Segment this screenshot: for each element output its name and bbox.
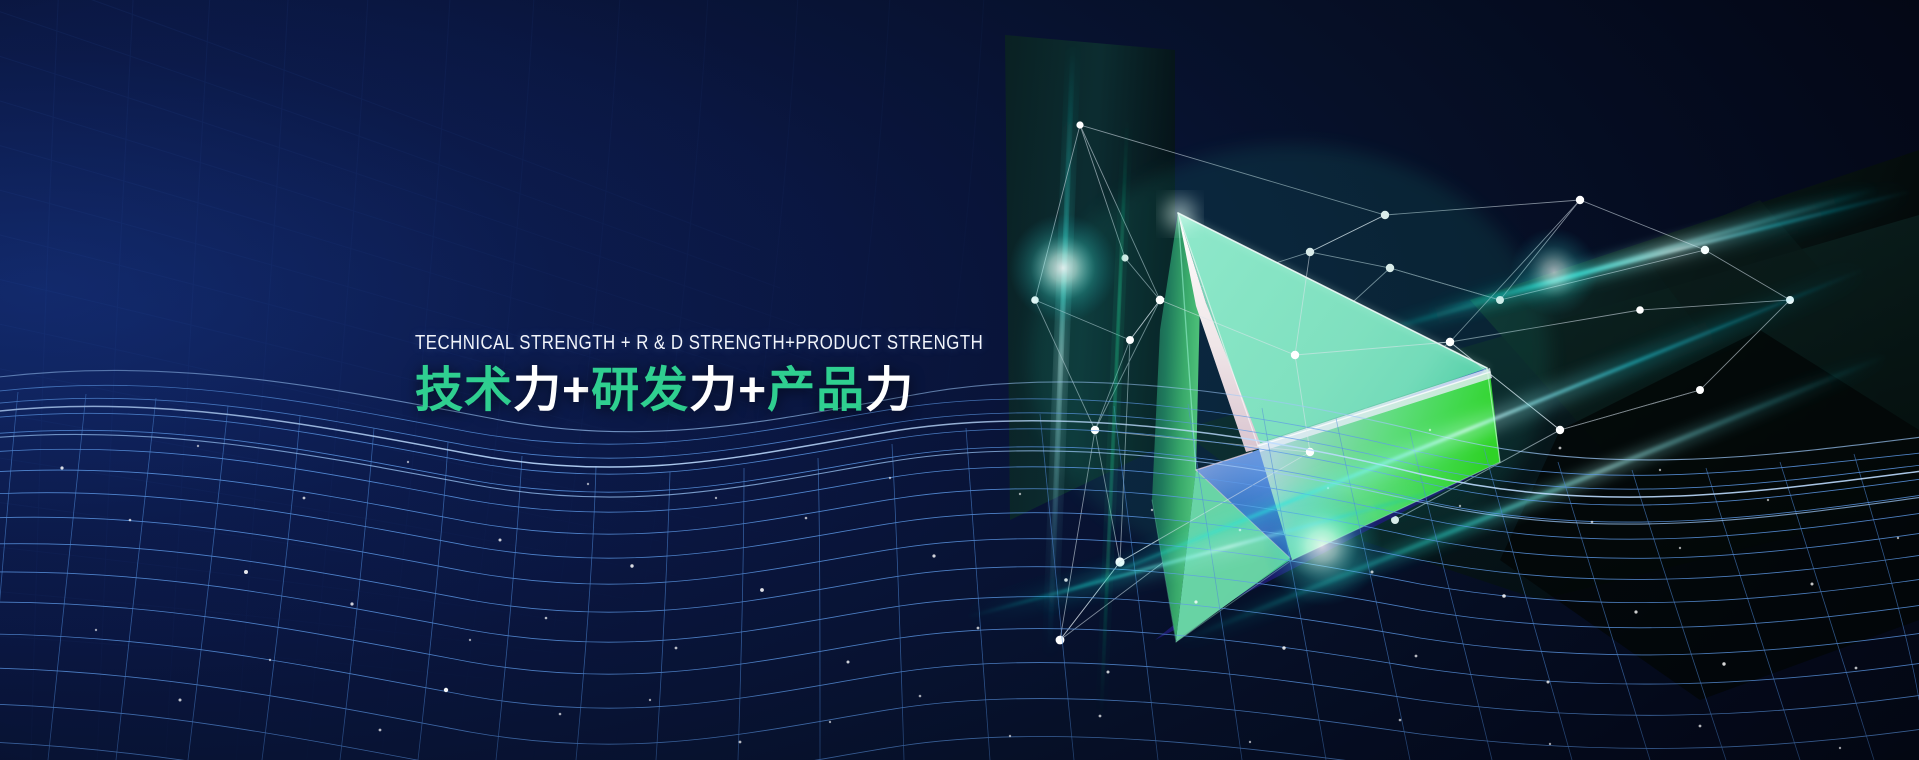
page-title: 技术力+研发力+产品力 — [415, 366, 1095, 417]
headline-segment-7: 力 — [865, 364, 914, 417]
headline-segment-6: 产品 — [767, 364, 865, 417]
eyebrow-text: TECHNICAL STRENGTH + R & D STRENGTH+PROD… — [415, 333, 973, 354]
headline-block: TECHNICAL STRENGTH + R & D STRENGTH+PROD… — [415, 333, 1095, 416]
headline-segment-1: 力 — [513, 364, 562, 417]
headline-segment-2: + — [562, 364, 591, 417]
headline-segment-0: 技术 — [415, 364, 513, 417]
hero-banner: TECHNICAL STRENGTH + R & D STRENGTH+PROD… — [0, 0, 1919, 760]
headline-segment-3: 研发 — [591, 364, 689, 417]
headline-segment-5: + — [738, 364, 767, 417]
headline-segment-4: 力 — [689, 364, 738, 417]
